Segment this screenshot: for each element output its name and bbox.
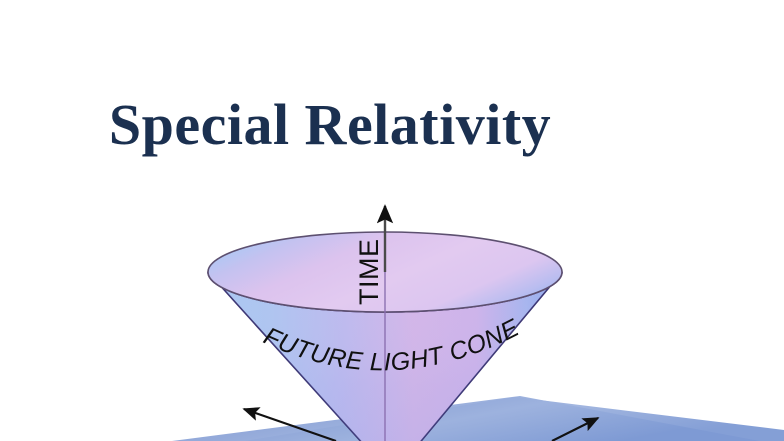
time-axis-label: TIME xyxy=(354,239,384,306)
present-hypersurface-plane xyxy=(172,396,784,441)
light-cone-diagram: TIME FUTURE LIGHT CONE xyxy=(0,0,784,441)
slide-canvas: Special Relativity xyxy=(0,0,784,441)
